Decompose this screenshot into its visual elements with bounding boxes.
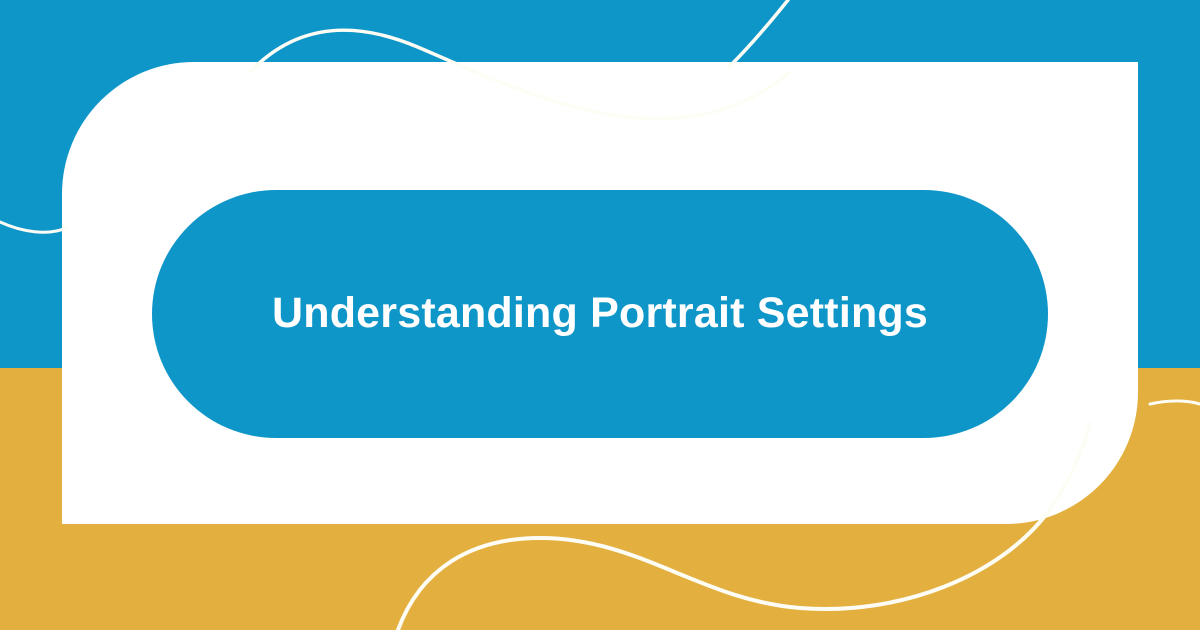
left-blue-notch (0, 330, 62, 368)
title-pill: Understanding Portrait Settings (152, 190, 1048, 438)
banner-canvas: Understanding Portrait Settings (0, 0, 1200, 630)
page-title: Understanding Portrait Settings (272, 289, 928, 338)
